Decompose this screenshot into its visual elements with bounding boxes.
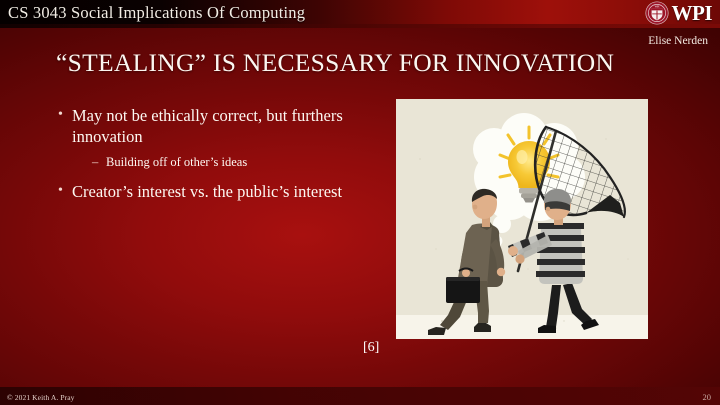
image-citation: [6] — [363, 340, 379, 356]
presentation-slide: CS 3043 Social Implications Of Computing… — [0, 0, 720, 405]
bullet-marker: • — [58, 182, 72, 201]
bullet-text: Creator’s interest vs. the public’s inte… — [72, 182, 378, 203]
bullet-list: • May not be ethically correct, but furt… — [58, 106, 378, 209]
copyright-notice: © 2021 Keith A. Pray — [7, 393, 75, 402]
course-title: CS 3043 Social Implications Of Computing — [8, 3, 305, 23]
idea-theft-illustration — [396, 99, 648, 339]
slide-title: “STEALING” IS NECESSARY FOR INNOVATION — [56, 48, 656, 78]
sub-bullet-item: – Building off of other’s ideas — [92, 154, 378, 170]
wpi-wordmark: WPI — [672, 3, 713, 24]
bullet-marker: • — [58, 106, 72, 125]
sub-bullet-text: Building off of other’s ideas — [106, 154, 247, 170]
bullet-item: • May not be ethically correct, but furt… — [58, 106, 378, 148]
svg-text:WPI: WPI — [654, 5, 659, 8]
bullet-text: May not be ethically correct, but furthe… — [72, 106, 378, 148]
wpi-logo: WPI WPI — [645, 1, 713, 25]
slide-number: 20 — [703, 392, 712, 402]
bullet-item: • Creator’s interest vs. the public’s in… — [58, 182, 378, 203]
wpi-seal-icon: WPI — [645, 1, 669, 25]
slide-footer-bar — [0, 387, 720, 405]
presenter-name: Elise Nerden — [648, 35, 708, 47]
sub-bullet-marker: – — [92, 154, 106, 170]
